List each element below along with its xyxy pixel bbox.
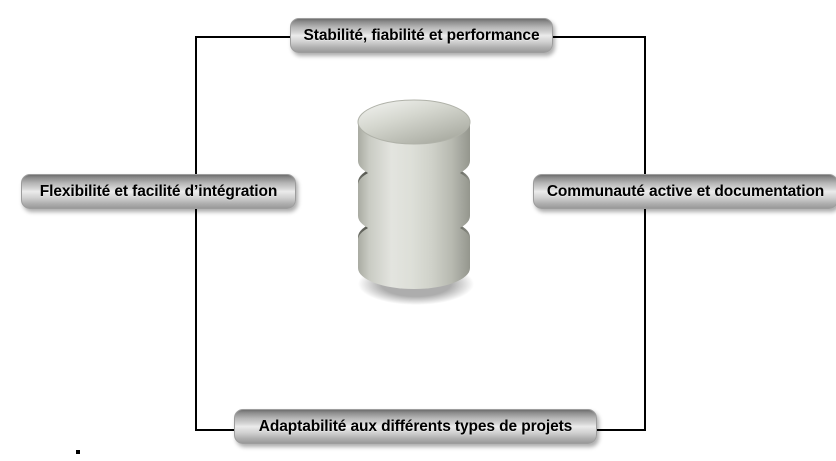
concept-node-left[interactable]: Flexibilité et facilité d’intégration	[21, 174, 296, 209]
database-cylinder-icon	[352, 92, 476, 307]
concept-node-bottom-label: Adaptabilité aux différents types de pro…	[247, 419, 584, 435]
stray-dot-mark	[76, 450, 80, 454]
concept-node-bottom[interactable]: Adaptabilité aux différents types de pro…	[234, 409, 597, 444]
concept-node-left-label: Flexibilité et facilité d’intégration	[28, 184, 289, 200]
concept-node-top-label: Stabilité, fiabilité et performance	[292, 28, 552, 44]
concept-node-right-label: Communauté active et documentation	[535, 184, 836, 200]
concept-node-top[interactable]: Stabilité, fiabilité et performance	[290, 18, 553, 53]
diagram-canvas: Stabilité, fiabilité et performance Flex…	[0, 0, 836, 461]
concept-node-right[interactable]: Communauté active et documentation	[533, 174, 836, 209]
cylinder-top-face	[358, 100, 470, 144]
